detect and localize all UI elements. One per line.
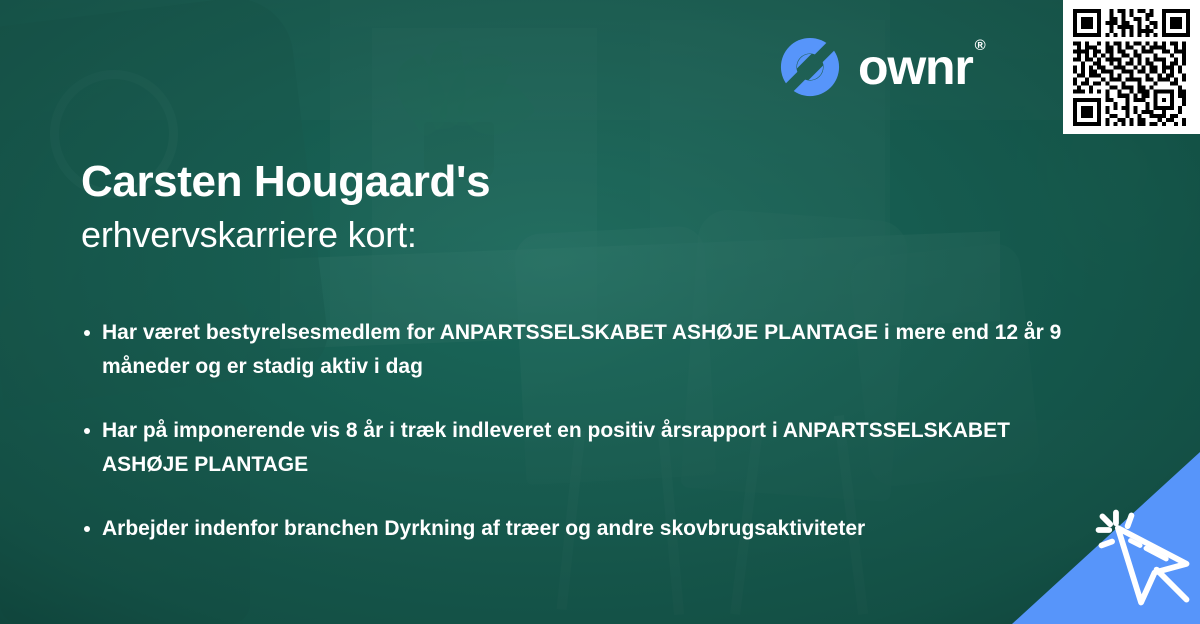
registered-trademark-icon: ® xyxy=(975,37,986,54)
bullet-dot-icon xyxy=(84,428,90,434)
list-item-text: Arbejder indenfor branchen Dyrkning af t… xyxy=(102,512,1092,546)
qr-code-icon[interactable] xyxy=(1073,9,1190,126)
promo-card: ownr® xyxy=(0,0,1200,624)
bullet-dot-icon xyxy=(84,526,90,532)
list-item: Har på imponerende vis 8 år i træk indle… xyxy=(82,414,1092,482)
qr-code[interactable] xyxy=(1063,0,1200,134)
list-item-text: Har været bestyrelsesmedlem for ANPARTSS… xyxy=(102,316,1092,384)
ownr-swirl-logo-icon xyxy=(779,36,841,98)
page-title: Carsten Hougaard's erhvervskarriere kort… xyxy=(81,158,981,257)
brand-wordmark: ownr® xyxy=(858,42,984,92)
list-item-text: Har på imponerende vis 8 år i træk indle… xyxy=(102,414,1092,482)
page-title-name: Carsten Hougaard's xyxy=(81,158,981,206)
bullet-dot-icon xyxy=(84,330,90,336)
brand-lockup: ownr® xyxy=(779,36,984,98)
list-item: Arbejder indenfor branchen Dyrkning af t… xyxy=(82,512,1092,546)
click-cursor-icon xyxy=(1086,500,1200,616)
brand-wordmark-text: ownr xyxy=(858,39,973,95)
career-highlights-list: Har været bestyrelsesmedlem for ANPARTSS… xyxy=(82,316,1092,546)
list-item: Har været bestyrelsesmedlem for ANPARTSS… xyxy=(82,316,1092,384)
page-title-subtitle: erhvervskarriere kort: xyxy=(81,212,981,257)
